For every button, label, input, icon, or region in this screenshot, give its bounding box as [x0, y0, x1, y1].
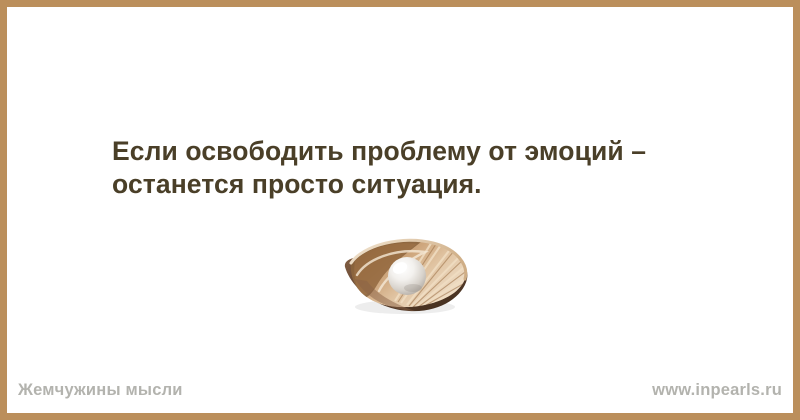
shell-pearl-svg	[337, 231, 477, 317]
quote-text: Если освободить проблему от эмоций – ост…	[112, 135, 712, 201]
pearl-contact-shadow	[404, 284, 422, 292]
footer-brand: Жемчужины мысли	[18, 381, 183, 400]
footer-site-url[interactable]: www.inpearls.ru	[652, 381, 782, 400]
oyster-shell-with-pearl-illustration	[337, 231, 477, 317]
footer: Жемчужины мысли www.inpearls.ru	[7, 367, 793, 413]
quote-card: Если освободить проблему от эмоций – ост…	[0, 0, 800, 420]
